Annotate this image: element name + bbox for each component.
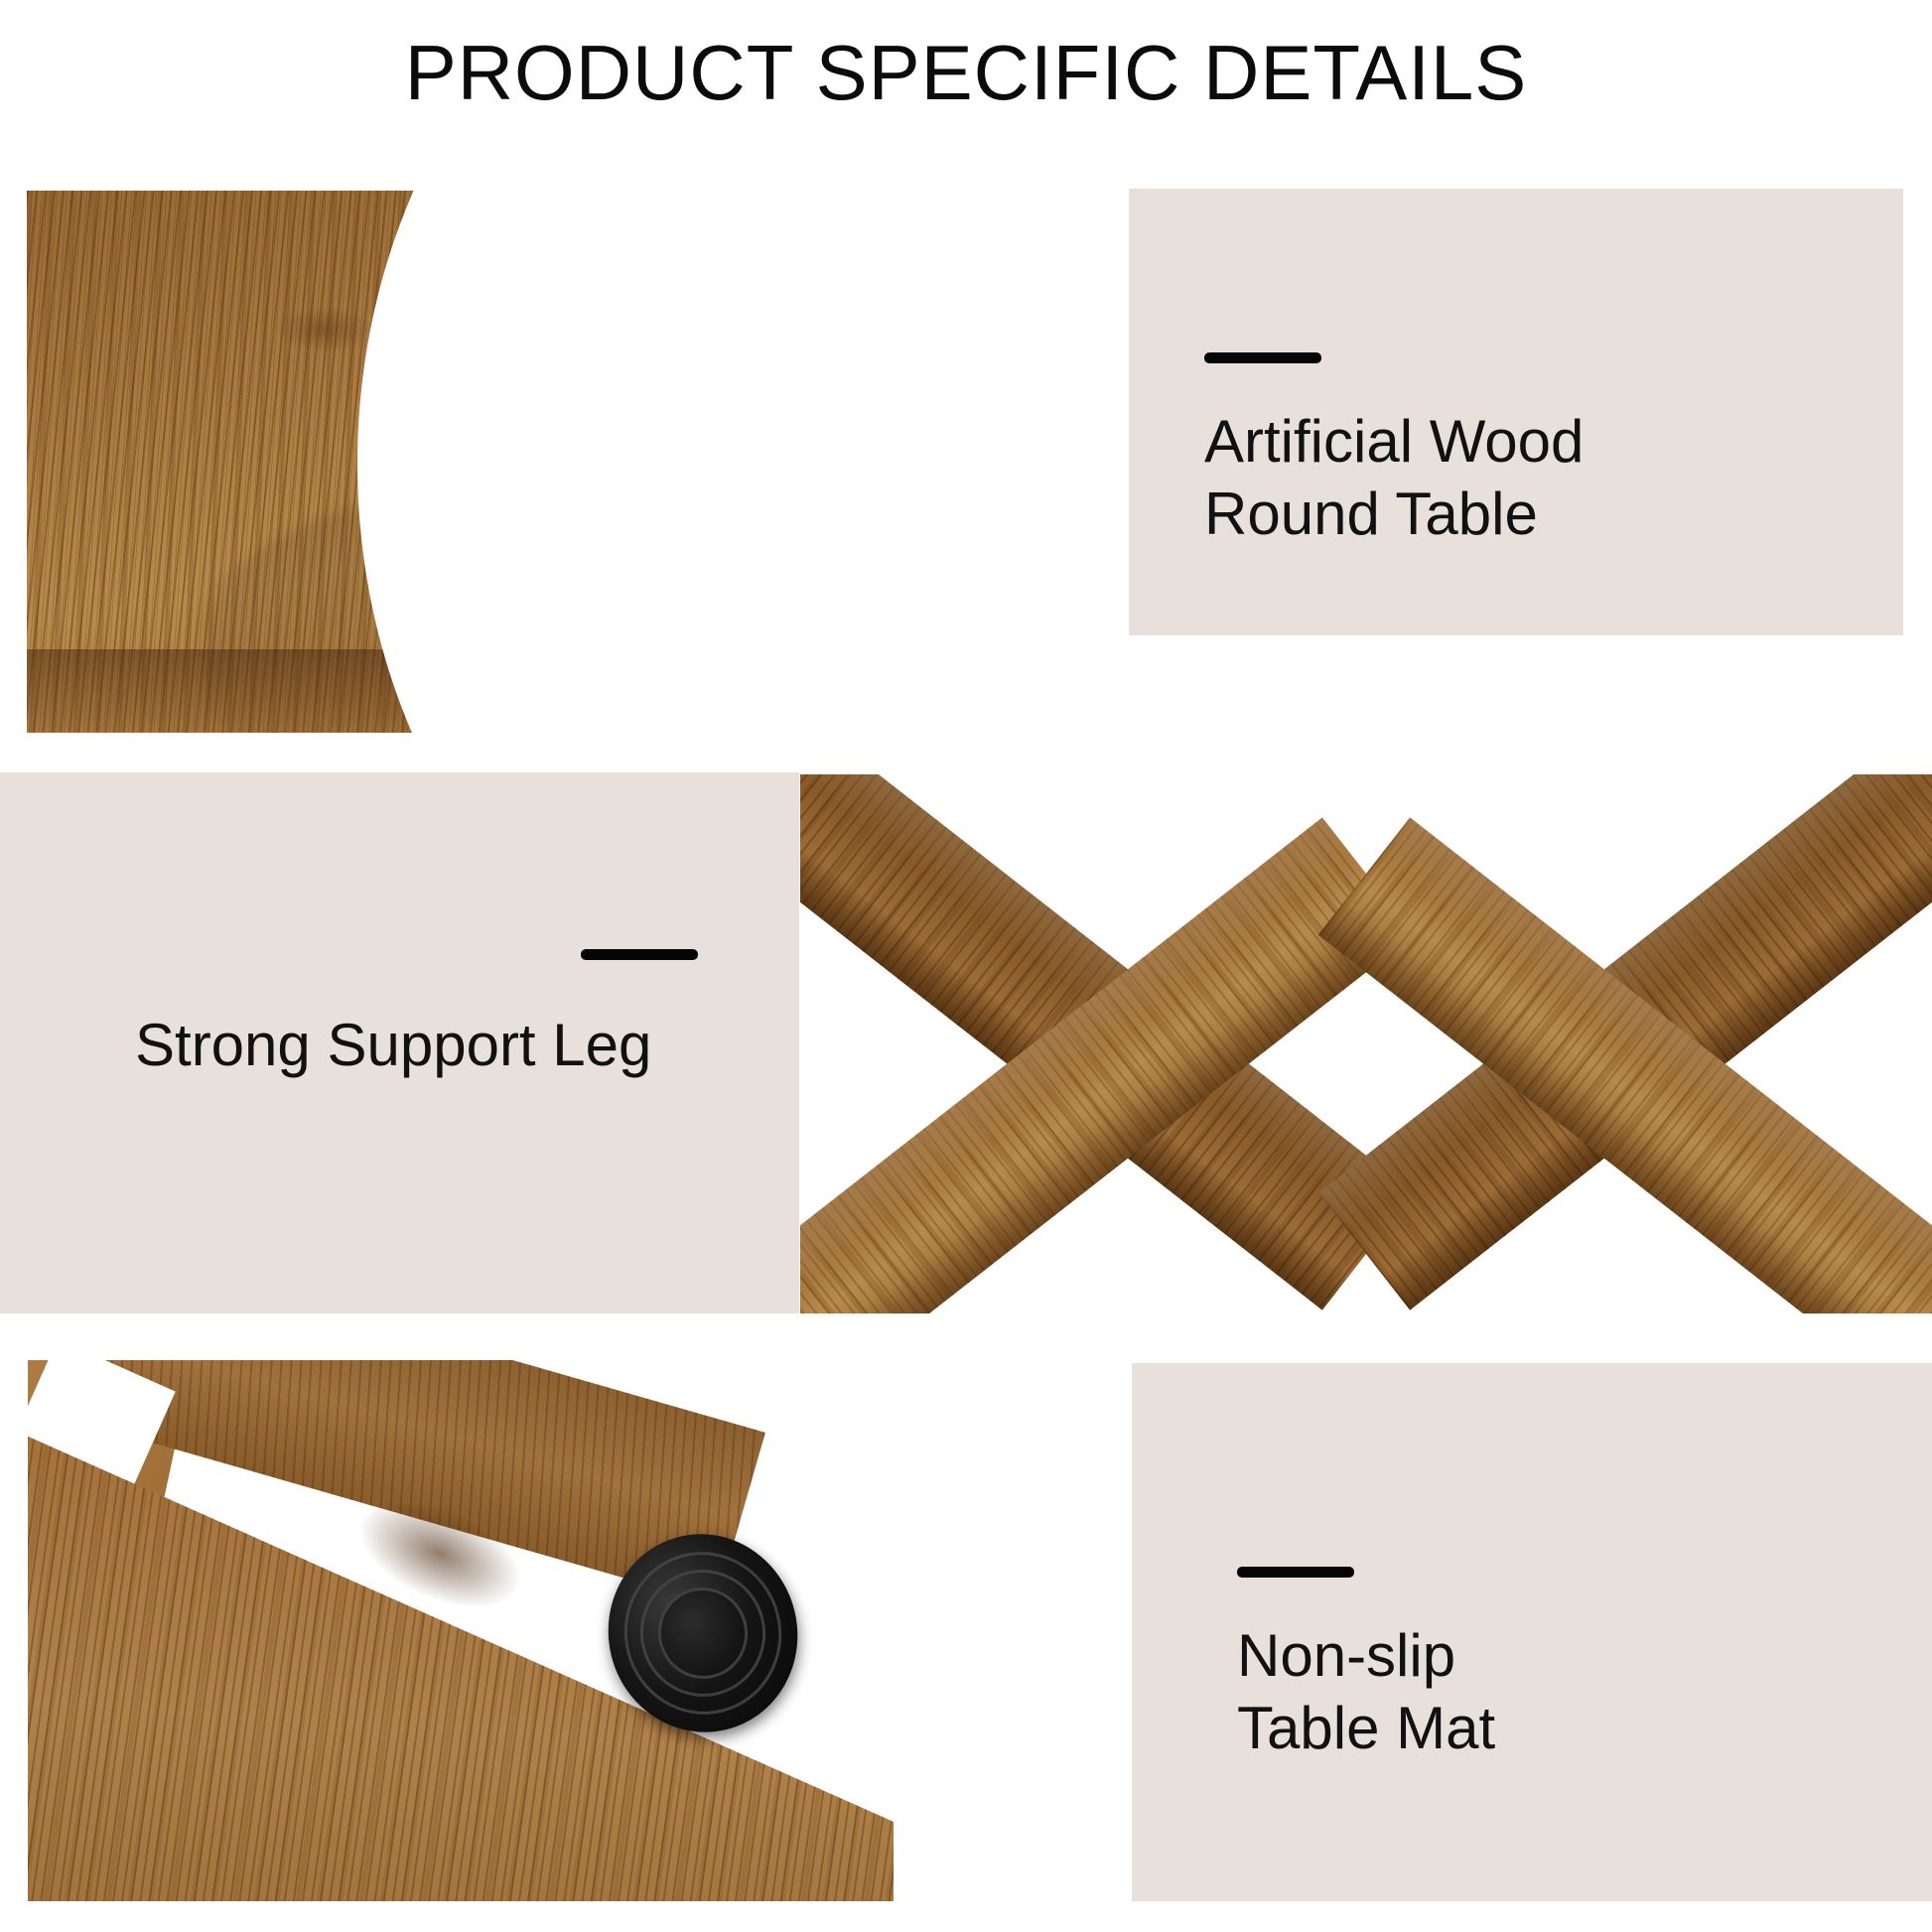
accent-dash-icon [581,949,698,960]
product-photo-round-tabletop [27,191,1102,733]
product-photo-non-slip-foot-pad [28,1360,894,1901]
page-title: PRODUCT SPECIFIC DETAILS [0,34,1932,111]
product-photo-cross-support-base [800,774,1932,1313]
tabletop-round-cutout [357,191,1102,733]
feature-card-non-slip-table-mat: Non-slip Table Mat [1132,1363,1932,1901]
feature-card-artificial-wood-round-table: Artificial Wood Round Table [1129,189,1903,635]
feature-caption: Artificial Wood Round Table [1204,405,1584,550]
feature-caption: Non-slip Table Mat [1237,1619,1495,1764]
feature-card-strong-support-leg: Strong Support Leg [0,772,799,1313]
accent-dash-icon [1204,352,1321,363]
accent-dash-icon [1237,1567,1354,1578]
feature-caption: Strong Support Leg [135,1009,651,1081]
